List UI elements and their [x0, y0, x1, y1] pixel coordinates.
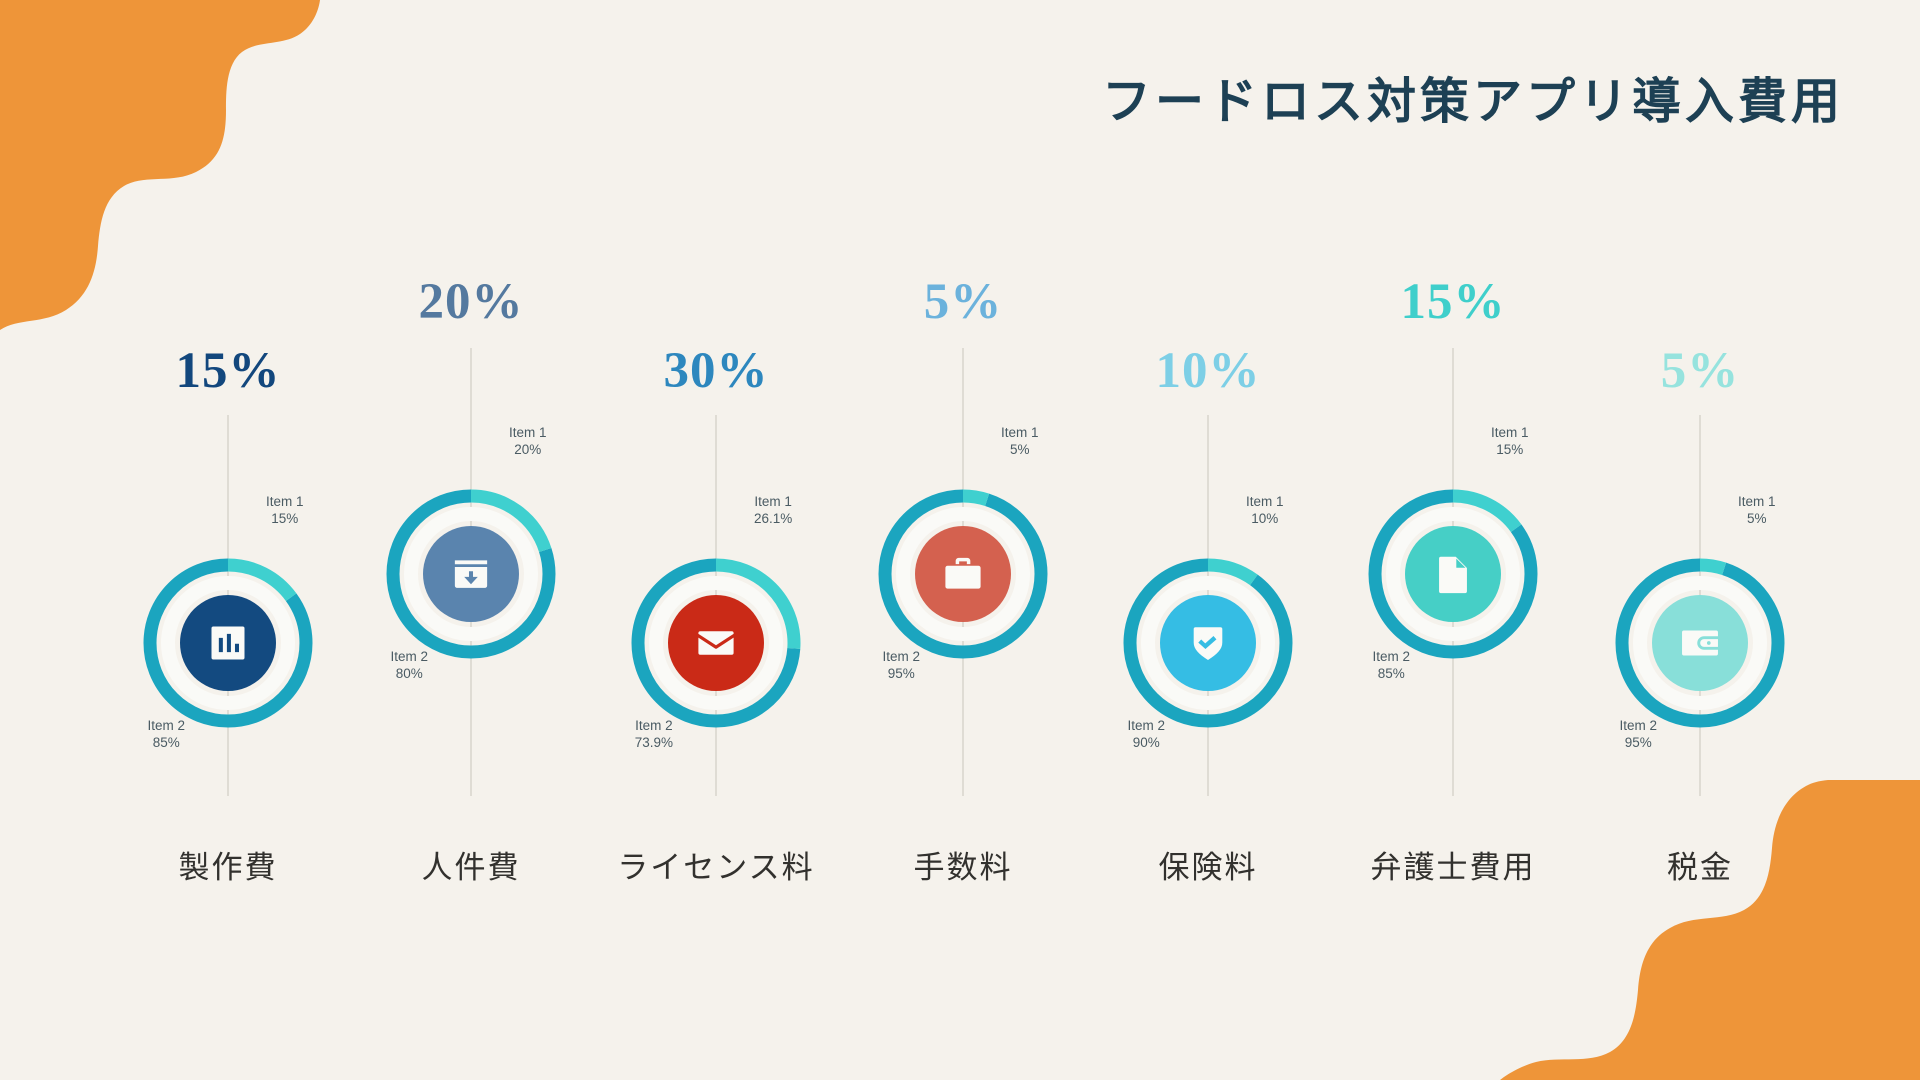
donut-chart[interactable]	[872, 483, 1054, 665]
item1-value: 20%	[509, 442, 547, 459]
mail-icon-glyph	[694, 621, 738, 665]
bar-chart-icon	[180, 595, 276, 691]
item2-value: 85%	[1372, 666, 1410, 683]
item1-callout: Item 15%	[1738, 494, 1776, 528]
item1-label: Item 1	[1491, 425, 1529, 440]
item1-label: Item 1	[754, 494, 792, 509]
shield-check-icon	[1160, 595, 1256, 691]
percent-heading: 15%	[98, 346, 358, 397]
item2-value: 90%	[1127, 735, 1165, 752]
donut-chart[interactable]	[1609, 552, 1791, 734]
wallet-icon	[1652, 595, 1748, 691]
metric-group-7[interactable]: 5%Item 15%Item 295%税金	[1570, 0, 1830, 1080]
bar-chart-icon-glyph	[206, 621, 250, 665]
item2-label: Item 2	[390, 649, 428, 664]
item1-value: 10%	[1246, 511, 1284, 528]
metric-group-6[interactable]: 15%Item 115%Item 285%弁護士費用	[1323, 0, 1583, 1080]
donut-chart[interactable]	[380, 483, 562, 665]
percent-heading: 10%	[1078, 346, 1338, 397]
category-label: 手数料	[833, 842, 1093, 887]
category-label: 税金	[1570, 842, 1830, 887]
infographic-chart: 15%Item 115%Item 285%製作費20%Item 120%Item…	[0, 0, 1920, 1080]
metric-group-2[interactable]: 20%Item 120%Item 280%人件費	[341, 0, 601, 1080]
category-label: ライセンス料	[586, 842, 846, 887]
item2-value: 85%	[147, 735, 185, 752]
percent-heading: 15%	[1323, 277, 1583, 328]
item1-callout: Item 115%	[1491, 425, 1529, 459]
document-icon-glyph	[1431, 552, 1475, 596]
item1-value: 5%	[1001, 442, 1039, 459]
briefcase-icon-glyph	[941, 552, 985, 596]
metric-group-4[interactable]: 5%Item 15%Item 295%手数料	[833, 0, 1093, 1080]
item2-label: Item 2	[147, 718, 185, 733]
shield-check-icon-glyph	[1186, 621, 1230, 665]
item1-callout: Item 15%	[1001, 425, 1039, 459]
donut-chart[interactable]	[137, 552, 319, 734]
category-label: 製作費	[98, 842, 358, 887]
item2-label: Item 2	[635, 718, 673, 733]
item2-callout: Item 290%	[1127, 718, 1165, 752]
item1-callout: Item 115%	[266, 494, 304, 528]
item1-value: 15%	[266, 511, 304, 528]
item1-value: 5%	[1738, 511, 1776, 528]
item2-callout: Item 280%	[390, 649, 428, 683]
item2-callout: Item 285%	[1372, 649, 1410, 683]
metric-group-5[interactable]: 10%Item 110%Item 290%保険料	[1078, 0, 1338, 1080]
item2-value: 80%	[390, 666, 428, 683]
item2-label: Item 2	[1127, 718, 1165, 733]
item1-label: Item 1	[266, 494, 304, 509]
item2-label: Item 2	[1619, 718, 1657, 733]
wallet-icon-glyph	[1678, 621, 1722, 665]
archive-download-icon	[423, 526, 519, 622]
item1-callout: Item 110%	[1246, 494, 1284, 528]
metric-group-1[interactable]: 15%Item 115%Item 285%製作費	[98, 0, 358, 1080]
item1-label: Item 1	[1738, 494, 1776, 509]
category-label: 保険料	[1078, 842, 1338, 887]
document-icon	[1405, 526, 1501, 622]
item1-label: Item 1	[509, 425, 547, 440]
percent-heading: 5%	[833, 277, 1093, 328]
category-label: 弁護士費用	[1323, 842, 1583, 887]
item1-label: Item 1	[1001, 425, 1039, 440]
item2-label: Item 2	[1372, 649, 1410, 664]
item1-callout: Item 126.1%	[754, 494, 792, 528]
percent-heading: 5%	[1570, 346, 1830, 397]
category-label: 人件費	[341, 842, 601, 887]
donut-chart[interactable]	[1117, 552, 1299, 734]
archive-download-icon-glyph	[449, 552, 493, 596]
briefcase-icon	[915, 526, 1011, 622]
item2-value: 95%	[882, 666, 920, 683]
item2-value: 73.9%	[635, 735, 673, 752]
donut-chart[interactable]	[625, 552, 807, 734]
item2-callout: Item 285%	[147, 718, 185, 752]
item2-callout: Item 295%	[1619, 718, 1657, 752]
item1-callout: Item 120%	[509, 425, 547, 459]
item2-value: 95%	[1619, 735, 1657, 752]
item1-value: 15%	[1491, 442, 1529, 459]
percent-heading: 20%	[341, 277, 601, 328]
item1-label: Item 1	[1246, 494, 1284, 509]
metric-group-3[interactable]: 30%Item 126.1%Item 273.9%ライセンス料	[586, 0, 846, 1080]
donut-chart[interactable]	[1362, 483, 1544, 665]
mail-icon	[668, 595, 764, 691]
item2-callout: Item 273.9%	[635, 718, 673, 752]
item2-label: Item 2	[882, 649, 920, 664]
item2-callout: Item 295%	[882, 649, 920, 683]
percent-heading: 30%	[586, 346, 846, 397]
item1-value: 26.1%	[754, 511, 792, 528]
